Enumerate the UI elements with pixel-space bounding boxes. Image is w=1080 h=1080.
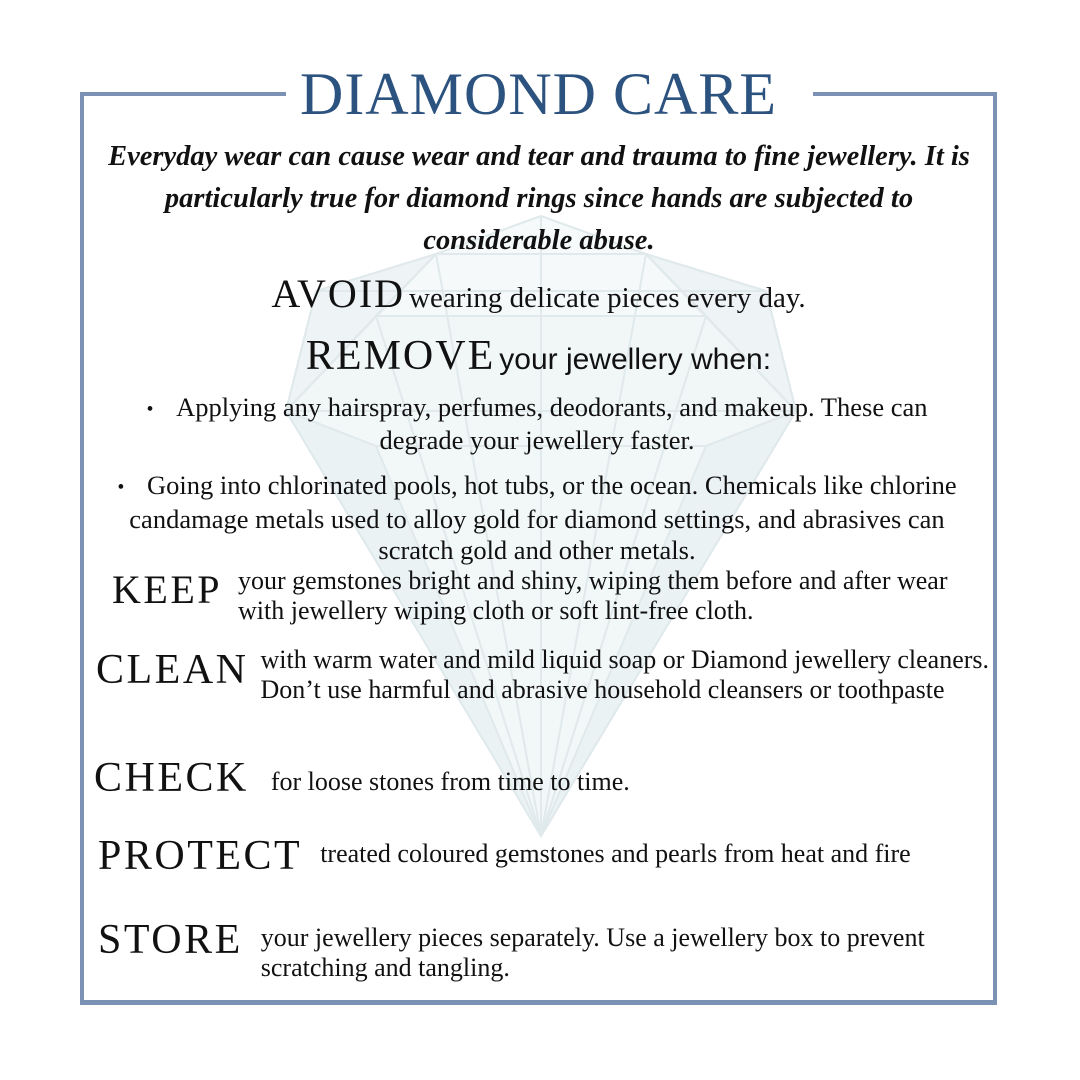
section-text-store: your jewellery pieces separately. Use a … xyxy=(243,917,988,983)
section-keyword-keep: KEEP xyxy=(112,566,222,612)
section-keyword-protect: PROTECT xyxy=(98,833,302,879)
list-item: • Going into chlorinated pools, hot tubs… xyxy=(114,470,960,565)
section-keyword-clean: CLEAN xyxy=(96,645,249,693)
section-text-remove: your jewellery when: xyxy=(499,343,771,376)
section-keep: KEEP your gemstones bright and shiny, wi… xyxy=(112,566,992,626)
page-title: DIAMOND CARE xyxy=(84,62,993,126)
section-text-keep: your gemstones bright and shiny, wiping … xyxy=(222,566,992,626)
remove-bullet-list: • Applying any hairspray, perfumes, deod… xyxy=(114,392,964,580)
list-item-text: Going into chlorinated pools, hot tubs, … xyxy=(129,470,956,564)
diamond-care-poster: DIAMOND CARE Everyday wear can cause wea… xyxy=(0,0,1080,1080)
poster-content: DIAMOND CARE Everyday wear can cause wea… xyxy=(84,0,993,1080)
section-keyword-remove: REMOVE xyxy=(306,333,495,379)
section-store: STORE your jewellery pieces separately. … xyxy=(98,917,988,983)
section-remove: REMOVE your jewellery when: xyxy=(84,332,993,380)
section-text-clean: with warm water and mild liquid soap or … xyxy=(249,645,993,705)
section-keyword-store: STORE xyxy=(98,917,243,963)
section-protect: PROTECT treated coloured gemstones and p… xyxy=(98,833,988,879)
bullet-marker-icon: • xyxy=(117,477,124,499)
list-item-text: Applying any hairspray, perfumes, deodor… xyxy=(160,392,927,455)
frame-right-edge xyxy=(993,92,997,1004)
section-text-avoid: wearing delicate pieces every day. xyxy=(409,282,806,314)
section-keyword-check: CHECK xyxy=(94,755,249,801)
list-item: • Applying any hairspray, perfumes, deod… xyxy=(142,392,932,456)
intro-paragraph: Everyday wear can cause wear and tear an… xyxy=(102,136,976,262)
section-check: CHECK for loose stones from time to time… xyxy=(94,755,984,801)
bullet-marker-icon: • xyxy=(147,398,154,420)
section-avoid: AVOID wearing delicate pieces every day. xyxy=(84,270,993,317)
section-clean: CLEAN with warm water and mild liquid so… xyxy=(96,645,992,705)
section-text-check: for loose stones from time to time. xyxy=(249,755,984,797)
section-keyword-avoid: AVOID xyxy=(271,271,405,316)
section-text-protect: treated coloured gemstones and pearls fr… xyxy=(302,833,988,869)
